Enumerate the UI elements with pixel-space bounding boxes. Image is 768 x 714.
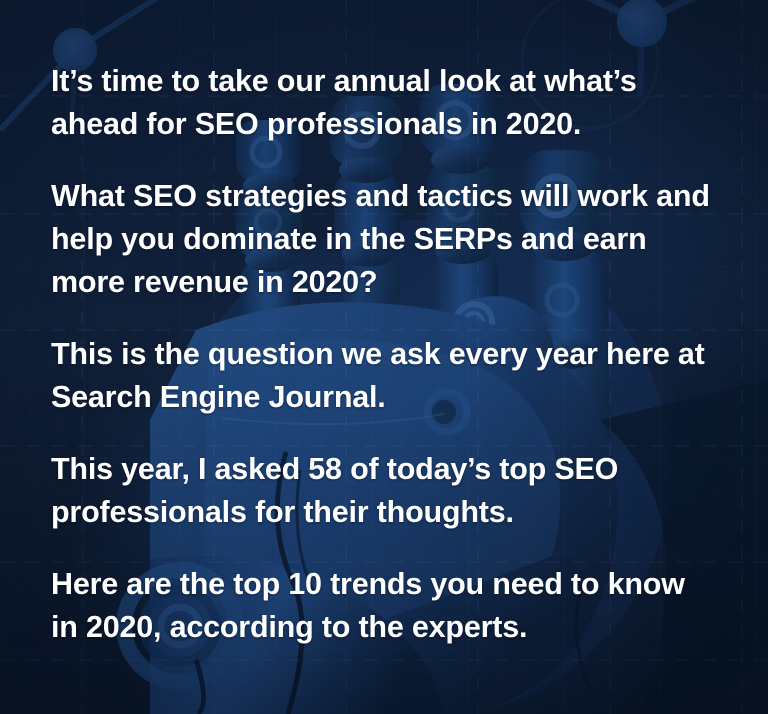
- paragraph-question: What SEO strategies and tactics will wor…: [51, 175, 711, 304]
- paragraph-survey: This year, I asked 58 of today’s top SEO…: [51, 448, 711, 534]
- paragraph-trends: Here are the top 10 trends you need to k…: [51, 563, 711, 649]
- paragraph-intro: It’s time to take our annual look at wha…: [51, 60, 711, 146]
- slide-copy-block: It’s time to take our annual look at wha…: [51, 60, 723, 649]
- slide-canvas: It’s time to take our annual look at wha…: [0, 0, 768, 714]
- paragraph-publication: This is the question we ask every year h…: [51, 333, 711, 419]
